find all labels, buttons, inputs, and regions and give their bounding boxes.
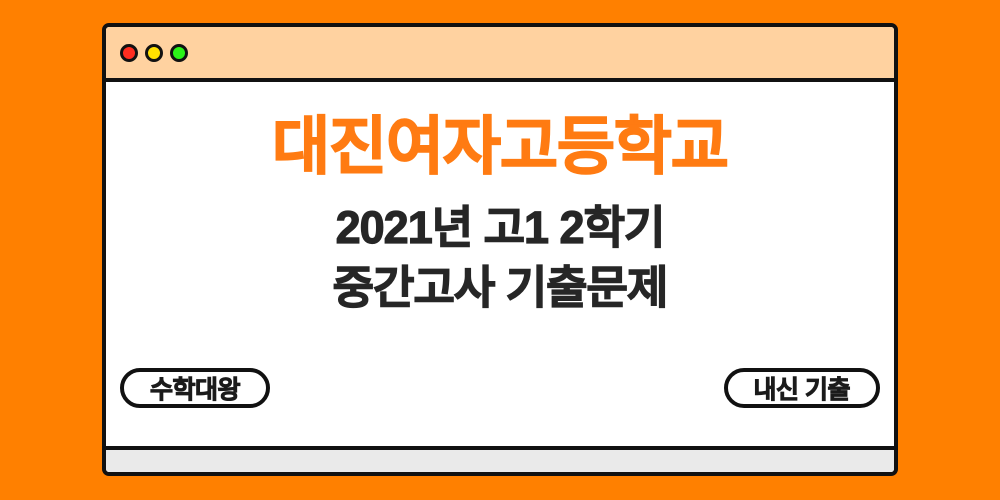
exam-term-subtitle: 2021년 고1 2학기 [118, 199, 882, 257]
badge-brand[interactable]: 수학대왕 [120, 368, 270, 408]
exam-type-subtitle: 중간고사 기출문제 [118, 259, 882, 317]
maximize-dot[interactable] [170, 44, 188, 62]
badge-category[interactable]: 내신 기출 [724, 368, 880, 408]
badge-row: 수학대왕 내신 기출 [120, 368, 880, 408]
minimize-dot[interactable] [145, 44, 163, 62]
window-titlebar [106, 27, 894, 82]
window-content-area: 대진여자고등학교 2021년 고1 2학기 중간고사 기출문제 수학대왕 내신 … [106, 82, 894, 446]
window-control-dots [120, 44, 188, 62]
school-name-title: 대진여자고등학교 [118, 116, 882, 179]
poster-canvas: 대진여자고등학교 2021년 고1 2학기 중간고사 기출문제 수학대왕 내신 … [0, 0, 1000, 500]
headline-block: 대진여자고등학교 2021년 고1 2학기 중간고사 기출문제 [106, 116, 894, 316]
browser-window-frame: 대진여자고등학교 2021년 고1 2학기 중간고사 기출문제 수학대왕 내신 … [102, 23, 898, 476]
close-dot[interactable] [120, 44, 138, 62]
window-footer-bar [106, 446, 894, 472]
